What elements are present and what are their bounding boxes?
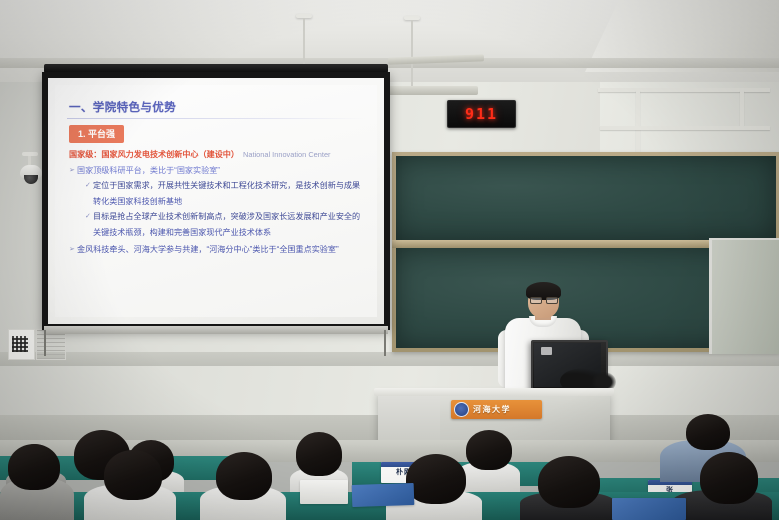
desk-book: [612, 498, 686, 520]
podium-top-surface: [374, 388, 614, 396]
slide-line-4-text: 金风科技牵头、河海大学参与共建，“河海分中心”类比于“全国重点实验室”: [77, 244, 339, 257]
slide-line-goldwind: ➢ 金风科技牵头、河海大学参与共建，“河海分中心”类比于“全国重点实验室”: [69, 244, 365, 257]
slide-line-goal: ✓ 目标是抢占全球产业技术创新制高点，突破涉及国家长远发展和产业安全的: [85, 211, 365, 224]
audience-head-front: [8, 444, 60, 490]
slide-title: 一、学院特色与优势: [69, 99, 176, 115]
slide-line-2-wrap: 转化类国家科技创新基地: [93, 196, 365, 209]
clock-digits: 911: [465, 105, 498, 123]
bullet-check-icon-1: ✓: [85, 180, 93, 193]
conduit-pipe-horizontal: [598, 88, 770, 92]
podium-placard-text: 河海大学: [473, 404, 511, 415]
glasses-icon: [530, 297, 557, 302]
desk-book: [352, 483, 415, 507]
audience-head: [296, 432, 342, 476]
qr-sticker-panel: [8, 329, 35, 360]
slide-body: 国家级： 国家风力发电技术创新中心（建设中） National Innovati…: [69, 149, 365, 260]
podium-left-face: [378, 396, 440, 444]
audience-head-front: [538, 456, 600, 508]
desk-paper: [300, 480, 348, 504]
lecture-hall-photo: 一、学院特色与优势 1. 平台强 国家级： 国家风力发电技术创新中心（建设中） …: [0, 0, 779, 520]
presentation-slide: 一、学院特色与优势 1. 平台强 国家级： 国家风力发电技术创新中心（建设中） …: [55, 85, 377, 317]
audience-head-front: [216, 452, 272, 500]
conduit-pipe-vertical-2: [740, 90, 744, 128]
slide-section-badge: 1. 平台强: [69, 125, 124, 143]
screen-cord-left: [44, 330, 46, 356]
conduit-pipe-vertical: [636, 90, 640, 152]
monitor-brand-badge: [541, 347, 552, 355]
slide-line-2-text: 定位于国家需求，开展共性关键技术和工程化技术研究，是技术创新与成果: [93, 180, 360, 193]
qr-code-icon: [12, 336, 28, 352]
slide-line-national: 国家级： 国家风力发电技术创新中心（建设中） National Innovati…: [69, 149, 365, 162]
conduit-pipe-horizontal-2: [600, 126, 770, 130]
slide-line-positioning: ✓ 定位于国家需求，开展共性关键技术和工程化技术研究，是技术创新与成果: [85, 180, 365, 193]
classroom-door[interactable]: [709, 238, 779, 354]
bullet-arrow-icon-2: ➢: [69, 244, 77, 257]
screen-cord-right: [384, 330, 386, 356]
bullet-arrow-icon-1: ➢: [69, 165, 77, 178]
slide-line-platform: ➢ 国家顶级科研平台，类比于“国家实验室”: [69, 165, 365, 178]
slide-line-0-label: 国家级：: [69, 149, 101, 162]
slide-line-0-text: 国家风力发电技术创新中心（建设中）: [101, 149, 239, 162]
audience-head: [466, 430, 512, 470]
university-seal-icon: [454, 402, 469, 417]
audience-head-front: [104, 450, 162, 500]
slide-line-0-english: National Innovation Center: [243, 149, 331, 162]
slide-line-3-wrap: 关键技术瓶颈，构建和完善国家现代产业技术体系: [93, 227, 365, 240]
slide-line-1-text: 国家顶级科研平台，类比于“国家实验室”: [77, 165, 220, 178]
projector-screen-bottom-bar: [44, 326, 388, 334]
led-wall-clock: 911: [447, 100, 516, 128]
audience-head: [686, 414, 730, 450]
lamp-rod-2: [411, 20, 413, 86]
chalkboard-upper-panel: [396, 156, 776, 240]
slide-title-rule: [67, 118, 365, 119]
audience-head-front: [406, 454, 466, 504]
bullet-check-icon-2: ✓: [85, 211, 93, 224]
audience-head-front: [700, 452, 758, 504]
podium-placard: 河海大学: [451, 400, 542, 419]
wall-trim: [0, 352, 779, 366]
slide-line-3-text: 目标是抢占全球产业技术创新制高点，突破涉及国家长远发展和产业安全的: [93, 211, 360, 224]
